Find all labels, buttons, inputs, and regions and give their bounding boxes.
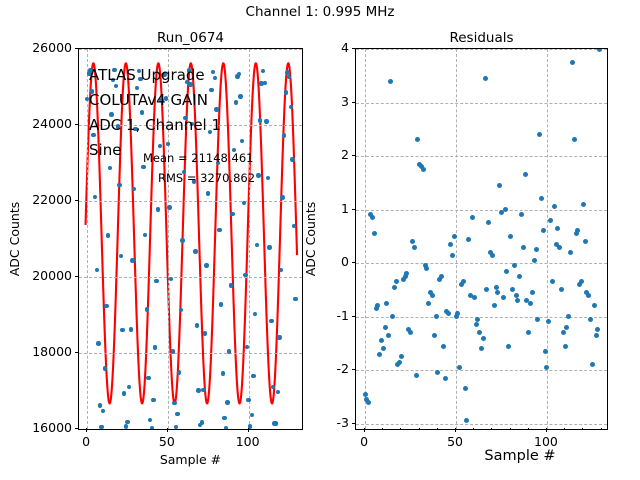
- data-point: [221, 371, 225, 375]
- data-point: [251, 374, 255, 378]
- data-point: [120, 328, 124, 332]
- x-tick-mark-minor: [400, 428, 401, 430]
- y-tick-mark: [352, 155, 356, 156]
- y-tick-mark: [352, 423, 356, 424]
- data-point: [477, 330, 482, 335]
- data-point: [140, 110, 144, 114]
- data-point: [375, 303, 380, 308]
- x-tick-mark-minor: [437, 428, 438, 430]
- x-tick-mark-minor: [382, 428, 383, 430]
- data-point: [172, 401, 176, 405]
- data-point: [435, 370, 440, 375]
- data-point: [238, 94, 242, 98]
- gridline-horizontal: [79, 277, 302, 278]
- data-point: [568, 250, 573, 255]
- data-point: [274, 421, 278, 425]
- data-point: [410, 239, 415, 244]
- data-point: [532, 258, 537, 263]
- data-point: [510, 287, 515, 292]
- data-point: [224, 426, 228, 430]
- right-y-axis-label: ADC Counts: [303, 139, 318, 339]
- y-tick-mark: [75, 352, 79, 353]
- data-point: [481, 336, 486, 341]
- data-point: [541, 228, 546, 233]
- gridline-horizontal: [356, 49, 607, 50]
- data-point: [570, 60, 575, 65]
- data-point: [546, 319, 551, 324]
- data-point: [514, 293, 519, 298]
- data-point: [145, 307, 149, 311]
- data-point: [214, 107, 218, 111]
- y-tick-mark: [352, 262, 356, 263]
- data-point: [108, 166, 112, 170]
- y-tick-mark: [75, 124, 79, 125]
- data-point: [466, 237, 471, 242]
- data-point: [484, 287, 489, 292]
- data-point: [439, 274, 444, 279]
- data-point: [151, 398, 155, 402]
- x-tick-mark-minor: [582, 428, 583, 430]
- data-point: [390, 314, 395, 319]
- data-point: [430, 293, 435, 298]
- x-tick-mark-minor: [564, 428, 565, 430]
- y-tick-label: 3: [293, 94, 349, 109]
- gridline-vertical: [456, 49, 457, 429]
- x-tick-mark-minor: [510, 428, 511, 430]
- data-point: [384, 301, 389, 306]
- data-point: [415, 137, 420, 142]
- data-point: [534, 247, 539, 252]
- data-point: [258, 118, 262, 122]
- x-tick-mark: [86, 428, 87, 432]
- data-point: [486, 220, 491, 225]
- x-tick-mark-minor: [601, 428, 602, 430]
- x-tick-mark-minor: [473, 428, 474, 430]
- data-point: [363, 392, 368, 397]
- data-point: [595, 327, 600, 332]
- x-tick-label: 100: [516, 434, 576, 449]
- data-point: [99, 425, 103, 429]
- data-point: [154, 279, 158, 283]
- data-point: [508, 234, 513, 239]
- data-point: [130, 258, 134, 262]
- y-tick-label: -1: [293, 308, 349, 323]
- data-point: [494, 285, 499, 290]
- data-point: [521, 245, 526, 250]
- data-point: [557, 245, 562, 250]
- data-point: [581, 202, 586, 207]
- data-point: [583, 239, 588, 244]
- data-point: [124, 424, 128, 428]
- data-point: [119, 254, 123, 258]
- data-point: [563, 344, 568, 349]
- y-tick-mark: [352, 316, 356, 317]
- annotation-coluta-gain: COLUTAv4 GAIN: [89, 92, 208, 109]
- data-point: [463, 386, 468, 391]
- data-point: [404, 271, 409, 276]
- data-point: [96, 341, 100, 345]
- data-point: [564, 325, 569, 330]
- y-tick-mark: [352, 209, 356, 210]
- data-point: [234, 100, 238, 104]
- y-tick-label: 22000: [16, 192, 72, 207]
- data-point: [263, 81, 267, 85]
- data-point: [561, 330, 566, 335]
- data-point: [230, 212, 234, 216]
- data-point: [441, 344, 446, 349]
- data-point: [443, 376, 448, 381]
- x-tick-label: 50: [137, 434, 197, 449]
- data-point: [504, 269, 509, 274]
- data-point: [497, 183, 502, 188]
- gridline-vertical: [249, 49, 250, 429]
- data-point: [292, 224, 296, 228]
- data-point: [203, 331, 207, 335]
- data-point: [479, 346, 484, 351]
- left-panel-title: Run_0674: [78, 30, 303, 46]
- data-point: [530, 290, 535, 295]
- data-point: [394, 279, 399, 284]
- y-tick-label: 1: [293, 201, 349, 216]
- data-point: [377, 352, 382, 357]
- gridline-horizontal: [79, 49, 302, 50]
- gridline-vertical: [547, 49, 548, 429]
- data-point: [537, 132, 542, 137]
- data-point: [475, 317, 480, 322]
- data-point: [512, 263, 517, 268]
- x-tick-mark-minor: [419, 428, 420, 430]
- x-tick-mark: [167, 428, 168, 432]
- data-point: [117, 183, 121, 187]
- annotation-rms-value: RMS = 3270.862: [158, 171, 255, 185]
- data-point: [171, 349, 175, 353]
- gridline-horizontal: [356, 103, 607, 104]
- data-point: [550, 279, 555, 284]
- x-tick-mark: [546, 428, 547, 432]
- data-point: [229, 283, 233, 287]
- annotation-atlas-upgrade: ATLAS Upgrade: [89, 67, 205, 84]
- y-tick-mark: [75, 428, 79, 429]
- y-tick-mark: [75, 200, 79, 201]
- y-tick-label: 24000: [16, 116, 72, 131]
- data-point: [104, 304, 108, 308]
- y-tick-mark: [352, 102, 356, 103]
- left-y-axis-label: ADC Counts: [7, 139, 22, 339]
- x-tick-mark-minor: [491, 428, 492, 430]
- data-point: [399, 354, 404, 359]
- data-point: [209, 88, 213, 92]
- data-point: [156, 207, 160, 211]
- data-point: [434, 314, 439, 319]
- data-point: [412, 245, 417, 250]
- y-tick-label: -3: [293, 415, 349, 430]
- data-point: [256, 173, 260, 177]
- data-point: [267, 245, 271, 249]
- gridline-horizontal: [356, 210, 607, 211]
- data-point: [366, 400, 371, 405]
- data-point: [414, 373, 419, 378]
- data-point: [129, 327, 133, 331]
- data-point: [594, 333, 599, 338]
- data-point: [523, 172, 528, 177]
- y-tick-mark: [75, 276, 79, 277]
- data-point: [125, 420, 129, 424]
- data-point: [572, 137, 577, 142]
- data-point: [284, 90, 288, 94]
- data-point: [237, 72, 241, 76]
- data-point: [448, 242, 453, 247]
- data-point: [279, 268, 283, 272]
- data-point: [472, 295, 477, 300]
- data-point: [461, 279, 466, 284]
- data-point: [519, 212, 524, 217]
- data-point: [175, 412, 179, 416]
- data-point: [193, 249, 197, 253]
- data-point: [222, 416, 226, 420]
- gridline-horizontal: [356, 424, 607, 425]
- data-point: [392, 285, 397, 290]
- data-point: [539, 196, 544, 201]
- gridline-horizontal: [356, 156, 607, 157]
- y-tick-label: 0: [293, 254, 349, 269]
- data-point: [180, 238, 184, 242]
- data-point: [575, 228, 580, 233]
- data-point: [450, 253, 455, 258]
- data-point: [506, 344, 511, 349]
- y-tick-label: -2: [293, 361, 349, 376]
- data-point: [219, 302, 223, 306]
- data-point: [515, 298, 520, 303]
- right-x-axis-label: Sample #: [430, 448, 610, 464]
- data-point: [432, 333, 437, 338]
- data-point: [483, 76, 488, 81]
- data-point: [379, 338, 384, 343]
- data-point: [146, 376, 150, 380]
- data-point: [590, 362, 595, 367]
- data-point: [548, 218, 553, 223]
- y-tick-mark: [75, 48, 79, 49]
- gridline-horizontal: [356, 370, 607, 371]
- data-point: [269, 319, 273, 323]
- data-point: [426, 301, 431, 306]
- data-point: [492, 303, 497, 308]
- x-tick-label: 0: [334, 434, 394, 449]
- data-point: [158, 144, 162, 148]
- data-point: [243, 273, 247, 277]
- data-point: [204, 263, 208, 267]
- data-point: [566, 314, 571, 319]
- right-plot-axes: [355, 48, 608, 430]
- x-tick-label: 50: [425, 434, 485, 449]
- data-point: [470, 215, 475, 220]
- data-point: [293, 297, 297, 301]
- data-point: [381, 346, 386, 351]
- data-point: [397, 360, 402, 365]
- data-point: [277, 335, 281, 339]
- data-point: [372, 231, 377, 236]
- x-tick-mark: [364, 428, 365, 432]
- data-point: [195, 323, 199, 327]
- data-point: [559, 287, 564, 292]
- y-tick-label: 20000: [16, 268, 72, 283]
- data-point: [517, 274, 522, 279]
- data-point: [588, 317, 593, 322]
- data-point: [370, 215, 375, 220]
- data-point: [386, 333, 391, 338]
- annotation-mean-value: Mean = 21148.461: [143, 151, 253, 165]
- data-point: [495, 290, 500, 295]
- data-point: [213, 76, 217, 80]
- x-tick-mark: [455, 428, 456, 432]
- data-point: [586, 293, 591, 298]
- data-point: [592, 303, 597, 308]
- x-tick-mark: [248, 428, 249, 432]
- data-point: [103, 366, 107, 370]
- gridline-horizontal: [79, 201, 302, 202]
- data-point: [503, 207, 508, 212]
- data-point: [264, 119, 268, 123]
- data-point: [452, 234, 457, 239]
- data-point: [474, 322, 479, 327]
- gridline-vertical: [365, 49, 366, 429]
- left-x-axis-label: Sample #: [78, 452, 303, 467]
- y-tick-label: 16000: [16, 420, 72, 435]
- y-tick-mark: [352, 48, 356, 49]
- data-point: [225, 400, 229, 404]
- data-point: [388, 79, 393, 84]
- data-point: [167, 205, 171, 209]
- data-point: [535, 317, 540, 322]
- y-tick-label: 2: [293, 147, 349, 162]
- data-point: [424, 266, 429, 271]
- y-tick-label: 26000: [16, 40, 72, 55]
- gridline-horizontal: [79, 353, 302, 354]
- y-tick-label: 4: [293, 40, 349, 55]
- data-point: [408, 330, 413, 335]
- data-point: [280, 195, 284, 199]
- data-point: [555, 226, 560, 231]
- data-point: [543, 349, 548, 354]
- gridline-vertical: [87, 49, 88, 429]
- annotation-waveform-type: Sine: [89, 142, 121, 159]
- data-point: [177, 370, 181, 374]
- gridline-horizontal: [356, 263, 607, 264]
- data-point: [200, 420, 204, 424]
- gridline-horizontal: [79, 429, 302, 430]
- y-tick-label: 18000: [16, 344, 72, 359]
- data-point: [579, 279, 584, 284]
- data-point: [528, 301, 533, 306]
- data-point: [150, 426, 154, 430]
- x-tick-label: 100: [218, 434, 278, 449]
- data-point: [196, 388, 200, 392]
- x-tick-mark-minor: [528, 428, 529, 430]
- data-point: [201, 388, 205, 392]
- data-point: [490, 253, 495, 258]
- data-point: [106, 233, 110, 237]
- data-point: [383, 325, 388, 330]
- data-point: [526, 330, 531, 335]
- figure-suptitle: Channel 1: 0.995 MHz: [0, 4, 640, 20]
- annotation-adc-channel: ADC 1, Channel 1: [89, 117, 221, 134]
- right-panel-title: Residuals: [355, 30, 608, 46]
- x-tick-label: 0: [56, 434, 116, 449]
- data-point: [597, 48, 602, 52]
- figure-canvas: Channel 1: 0.995 MHz Run_0674 1600018000…: [0, 0, 640, 480]
- data-point: [153, 345, 157, 349]
- data-point: [501, 295, 506, 300]
- data-point: [421, 167, 426, 172]
- y-tick-mark: [352, 369, 356, 370]
- data-point: [98, 403, 102, 407]
